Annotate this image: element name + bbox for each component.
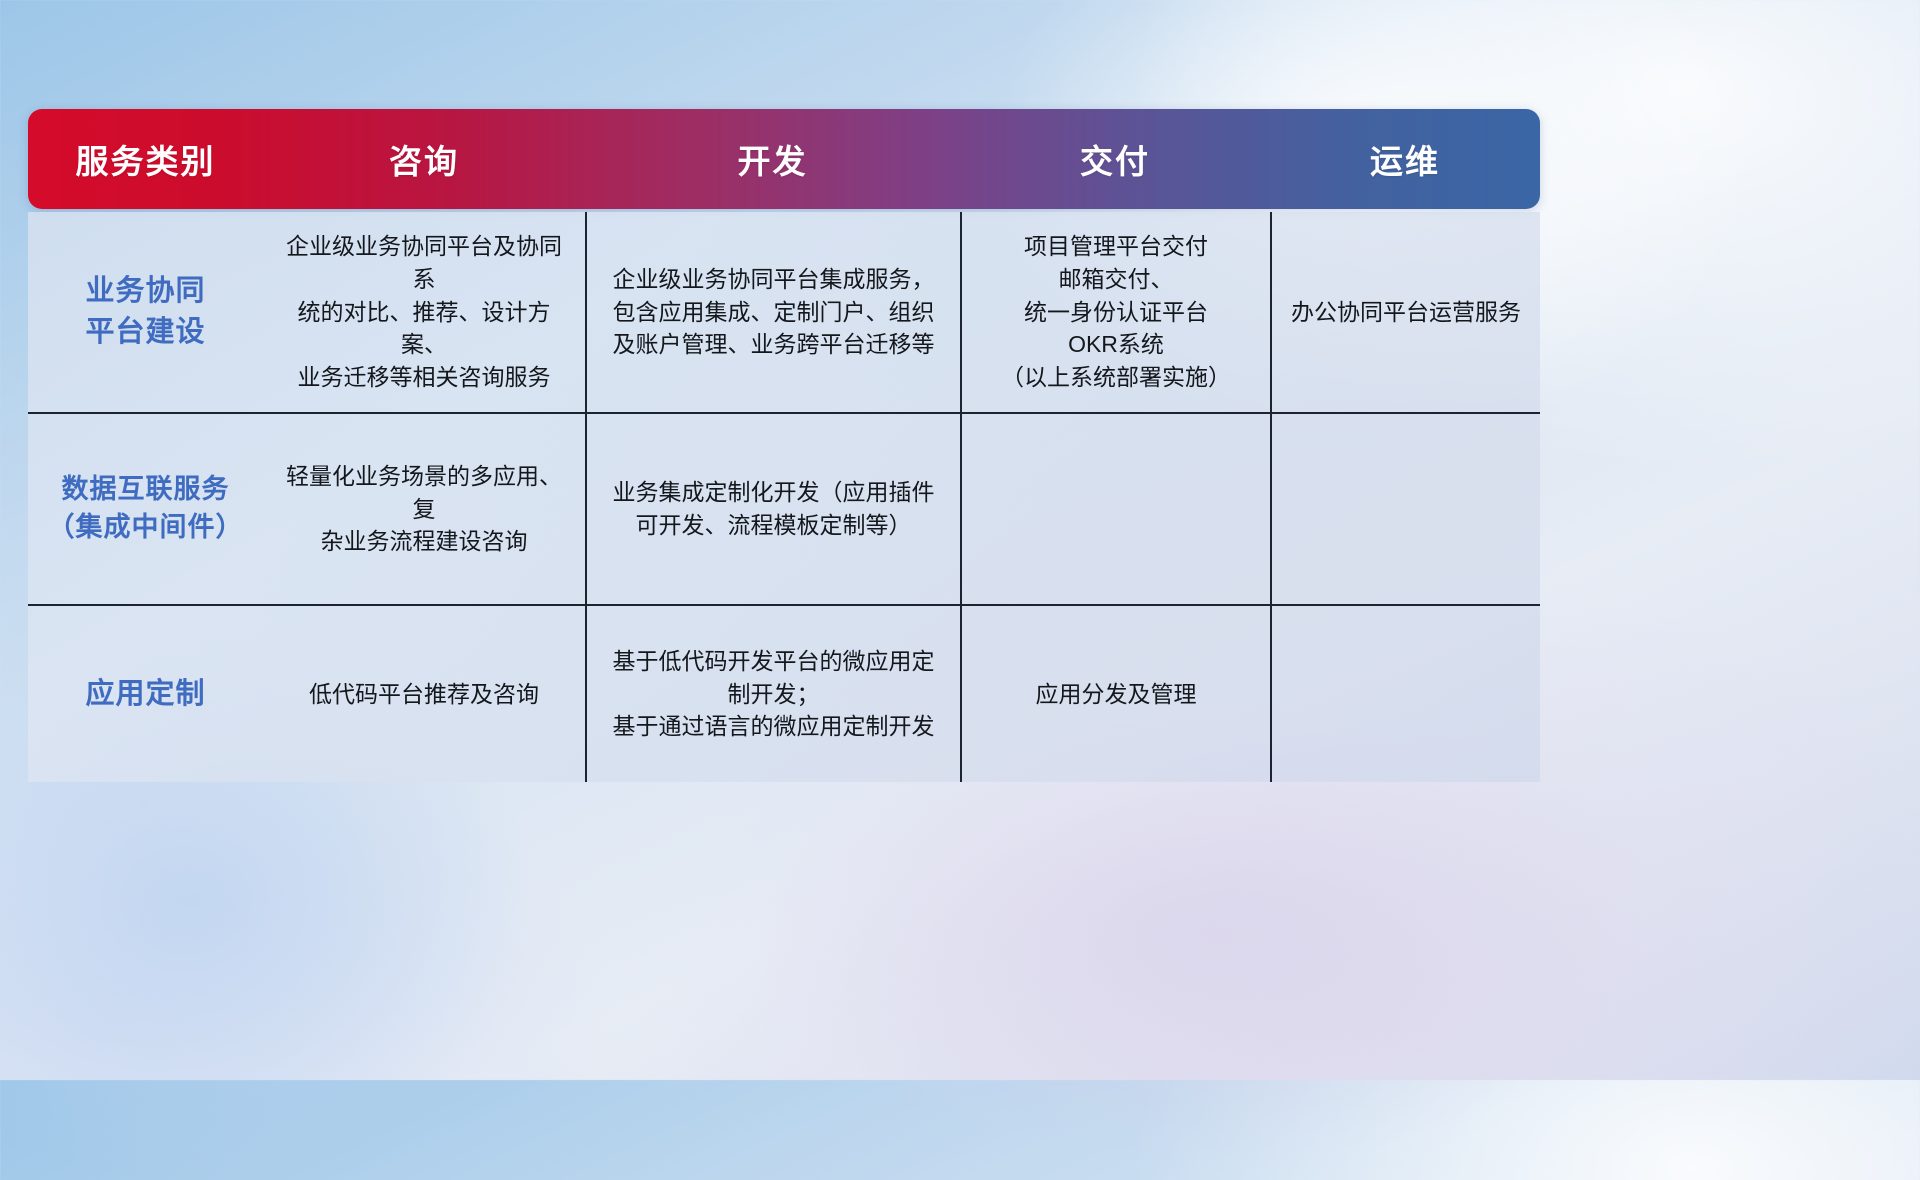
- cell-development: 业务集成定制化开发（应用插件可开发、流程模板定制等）: [585, 414, 960, 604]
- cell-consulting: 低代码平台推荐及咨询: [263, 606, 585, 782]
- table-row: 数据互联服务（集成中间件） 轻量化业务场景的多应用、复杂业务流程建设咨询 业务集…: [28, 414, 1540, 606]
- table-header-row: 服务类别 咨询 开发 交付 运维: [28, 109, 1540, 209]
- row-category-label: 数据互联服务（集成中间件）: [28, 414, 263, 604]
- cell-delivery: 应用分发及管理: [960, 606, 1270, 782]
- row-category-label: 业务协同平台建设: [28, 212, 263, 412]
- column-header-delivery: 交付: [960, 109, 1270, 209]
- column-header-service-category: 服务类别: [28, 109, 263, 209]
- column-header-development: 开发: [585, 109, 960, 209]
- column-header-consulting: 咨询: [263, 109, 585, 209]
- service-matrix-table: 服务类别 咨询 开发 交付 运维 业务协同平台建设 企业级业务协同平台及协同系统…: [28, 109, 1540, 782]
- table-row: 业务协同平台建设 企业级业务协同平台及协同系统的对比、推荐、设计方案、业务迁移等…: [28, 212, 1540, 414]
- cell-delivery: [960, 414, 1270, 604]
- cell-development: 企业级业务协同平台集成服务，包含应用集成、定制门户、组织及账户管理、业务跨平台迁…: [585, 212, 960, 412]
- cell-operations: [1270, 414, 1540, 604]
- column-header-operations: 运维: [1270, 109, 1540, 209]
- table-row: 应用定制 低代码平台推荐及咨询 基于低代码开发平台的微应用定制开发；基于通过语言…: [28, 606, 1540, 782]
- cell-consulting: 企业级业务协同平台及协同系统的对比、推荐、设计方案、业务迁移等相关咨询服务: [263, 212, 585, 412]
- cell-operations: 办公协同平台运营服务: [1270, 212, 1540, 412]
- cell-development: 基于低代码开发平台的微应用定制开发；基于通过语言的微应用定制开发: [585, 606, 960, 782]
- table-body: 业务协同平台建设 企业级业务协同平台及协同系统的对比、推荐、设计方案、业务迁移等…: [28, 212, 1540, 782]
- cell-consulting: 轻量化业务场景的多应用、复杂业务流程建设咨询: [263, 414, 585, 604]
- row-category-label: 应用定制: [28, 606, 263, 782]
- cell-operations: [1270, 606, 1540, 782]
- cell-delivery: 项目管理平台交付邮箱交付、统一身份认证平台OKR系统（以上系统部署实施）: [960, 212, 1270, 412]
